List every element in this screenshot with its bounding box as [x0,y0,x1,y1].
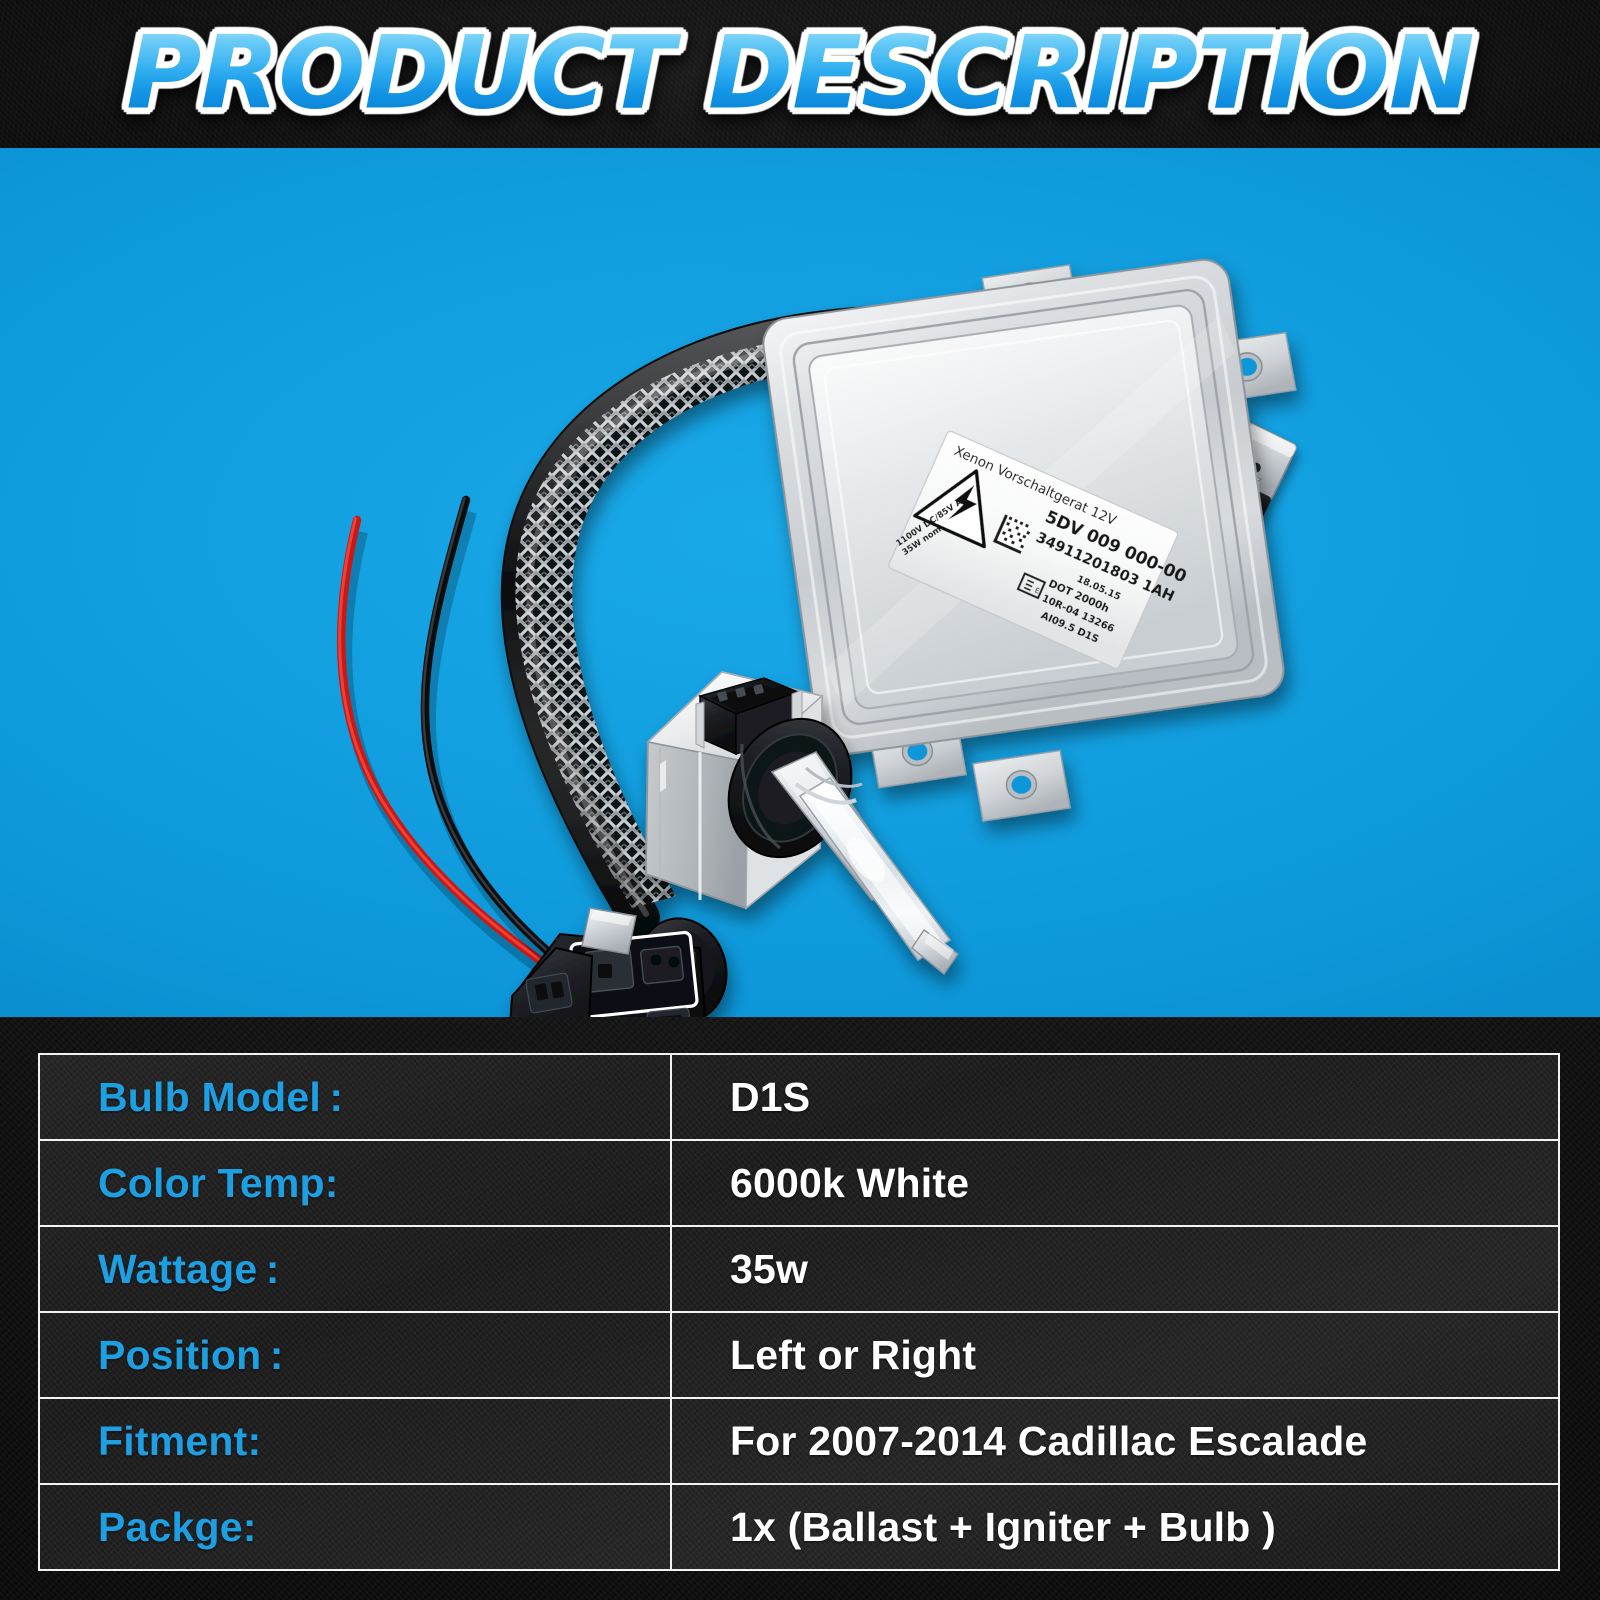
spec-label-fitment: Fitment: [98,1418,261,1465]
table-row: Wattage : 35w [40,1227,1558,1313]
spec-value-cell-package: 1x (Ballast + Igniter + Bulb ) [672,1485,1558,1569]
product-photo-illustration: E Xenon Vorschaltgerat 12V 5DV 009 000-0… [0,148,1600,1017]
specification-table: Bulb Model : D1S Color Temp: 6000k White… [38,1053,1560,1571]
spec-value-position: Left or Right [730,1332,976,1379]
spec-value-cell-color-temp: 6000k White [672,1141,1558,1225]
table-row: Color Temp: 6000k White [40,1141,1558,1227]
spec-label-position: Position : [98,1332,284,1379]
page-header: PRODUCT DESCRIPTION [0,0,1600,148]
table-row: Packge: 1x (Ballast + Igniter + Bulb ) [40,1485,1558,1569]
table-row: Fitment: For 2007-2014 Cadillac Escalade [40,1399,1558,1485]
table-row: Bulb Model : D1S [40,1055,1558,1141]
spec-label-wattage: Wattage : [98,1246,280,1293]
spec-value-wattage: 35w [730,1246,808,1293]
spec-label-bulb-model: Bulb Model : [98,1074,343,1121]
spec-label-package: Packge: [98,1504,257,1551]
product-description-page: PRODUCT DESCRIPTION [0,0,1600,1600]
spec-value-cell-bulb-model: D1S [672,1055,1558,1139]
spec-value-package: 1x (Ballast + Igniter + Bulb ) [730,1504,1276,1551]
spec-label-cell-wattage: Wattage : [40,1227,672,1311]
page-title: PRODUCT DESCRIPTION [126,24,1473,125]
spec-label-cell-color-temp: Color Temp: [40,1141,672,1225]
spec-value-cell-wattage: 35w [672,1227,1558,1311]
spec-value-color-temp: 6000k White [730,1160,969,1207]
spec-label-cell-position: Position : [40,1313,672,1397]
spec-label-cell-bulb-model: Bulb Model : [40,1055,672,1139]
spec-value-fitment: For 2007-2014 Cadillac Escalade [730,1418,1368,1465]
spec-value-bulb-model: D1S [730,1074,810,1121]
spec-label-cell-package: Packge: [40,1485,672,1569]
harness-connector [508,908,737,1017]
table-row: Position : Left or Right [40,1313,1558,1399]
spec-value-cell-fitment: For 2007-2014 Cadillac Escalade [672,1399,1558,1483]
spec-value-cell-position: Left or Right [672,1313,1558,1397]
product-photo: E Xenon Vorschaltgerat 12V 5DV 009 000-0… [0,148,1600,1017]
spec-label-color-temp: Color Temp: [98,1160,339,1207]
spec-label-cell-fitment: Fitment: [40,1399,672,1483]
